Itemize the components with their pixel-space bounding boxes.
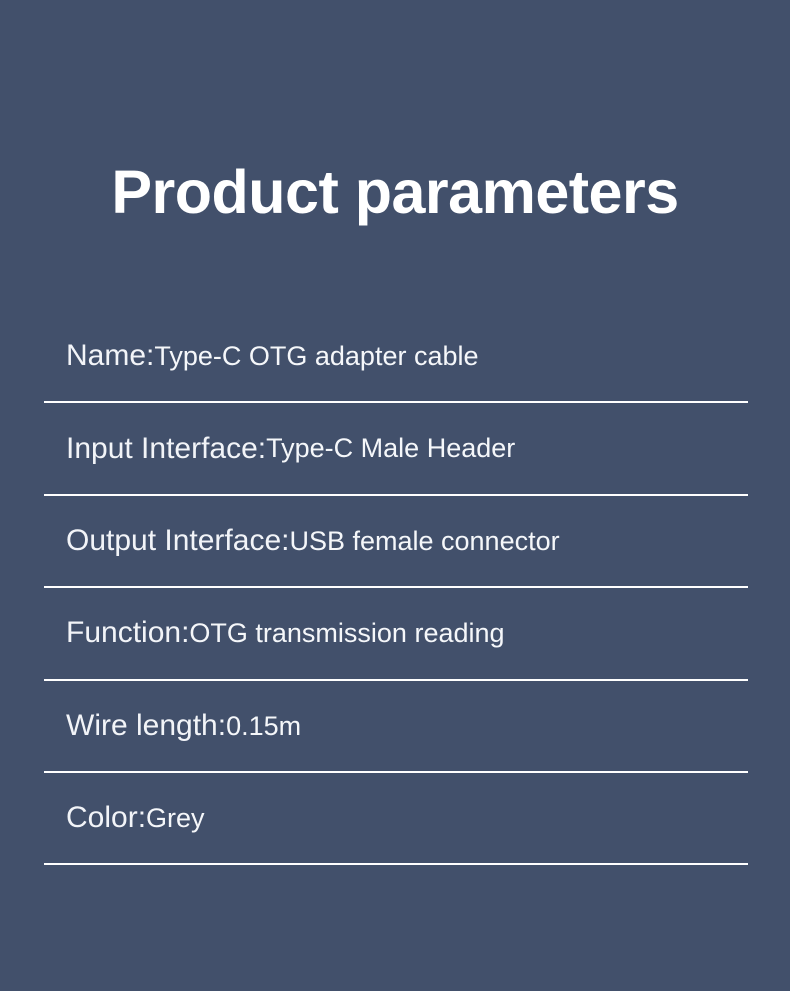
table-row: Color: Grey: [44, 773, 748, 865]
spec-value: 0.15m: [226, 710, 748, 742]
spec-label: Input Interface:: [44, 431, 266, 467]
spec-value: OTG transmission reading: [189, 617, 748, 649]
spec-label: Name:: [44, 338, 154, 374]
spec-value: USB female connector: [289, 525, 748, 557]
spec-label: Color:: [44, 800, 146, 836]
table-row: Wire length: 0.15m: [44, 681, 748, 773]
spec-label: Wire length:: [44, 708, 226, 744]
page-title: Product parameters: [111, 160, 678, 224]
specification-table: Name: Type-C OTG adapter cable Input Int…: [44, 311, 748, 865]
spec-value: Grey: [146, 802, 748, 834]
table-row: Output Interface: USB female connector: [44, 496, 748, 588]
product-parameters-page: Product parameters Name: Type-C OTG adap…: [0, 0, 790, 991]
table-row: Name: Type-C OTG adapter cable: [44, 311, 748, 403]
table-row: Function: OTG transmission reading: [44, 588, 748, 680]
spec-label: Function:: [44, 615, 189, 651]
spec-value: Type-C OTG adapter cable: [154, 340, 748, 372]
spec-value: Type-C Male Header: [266, 432, 748, 464]
page-title-block: Product parameters: [0, 160, 790, 224]
table-row: Input Interface: Type-C Male Header: [44, 403, 748, 495]
spec-label: Output Interface:: [44, 523, 289, 559]
